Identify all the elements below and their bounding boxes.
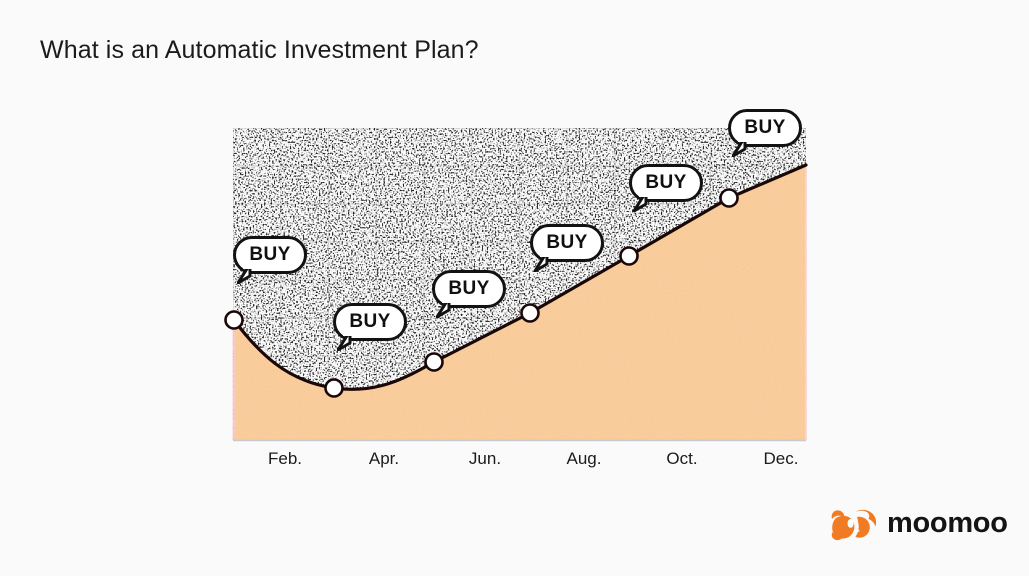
buy-label: BUY: [629, 164, 703, 202]
buy-bubble-5[interactable]: BUY: [629, 164, 703, 202]
x-axis-label-aug: Aug.: [567, 449, 602, 469]
investment-chart: BUY BUY BUY BUY: [0, 0, 1029, 500]
chart-canvas: [0, 0, 1029, 500]
x-axis-label-dec: Dec.: [764, 449, 799, 469]
data-point-marker[interactable]: [621, 248, 638, 265]
brand-wordmark: moomoo: [887, 509, 1008, 540]
x-axis-label-apr: Apr.: [369, 449, 399, 469]
buy-bubble-4[interactable]: BUY: [530, 224, 604, 262]
buy-bubble-2[interactable]: BUY: [333, 303, 407, 341]
data-point-marker[interactable]: [226, 312, 243, 329]
moomoo-logo: moomoo: [830, 505, 1008, 543]
x-axis-label-jun: Jun.: [469, 449, 501, 469]
data-point-marker[interactable]: [426, 354, 443, 371]
buy-label: BUY: [233, 236, 307, 274]
buy-label: BUY: [728, 109, 802, 147]
x-axis-label-feb: Feb.: [268, 449, 302, 469]
data-point-marker[interactable]: [721, 190, 738, 207]
buy-label: BUY: [432, 270, 506, 308]
data-point-marker[interactable]: [522, 305, 539, 322]
buy-bubble-3[interactable]: BUY: [432, 270, 506, 308]
page-root: What is an Automatic Investment Plan?: [0, 0, 1029, 576]
data-point-marker[interactable]: [326, 380, 343, 397]
buy-label: BUY: [530, 224, 604, 262]
bull-icon: [830, 505, 878, 543]
x-axis-label-oct: Oct.: [666, 449, 697, 469]
buy-bubble-6[interactable]: BUY: [728, 109, 802, 147]
buy-bubble-1[interactable]: BUY: [233, 236, 307, 274]
buy-label: BUY: [333, 303, 407, 341]
